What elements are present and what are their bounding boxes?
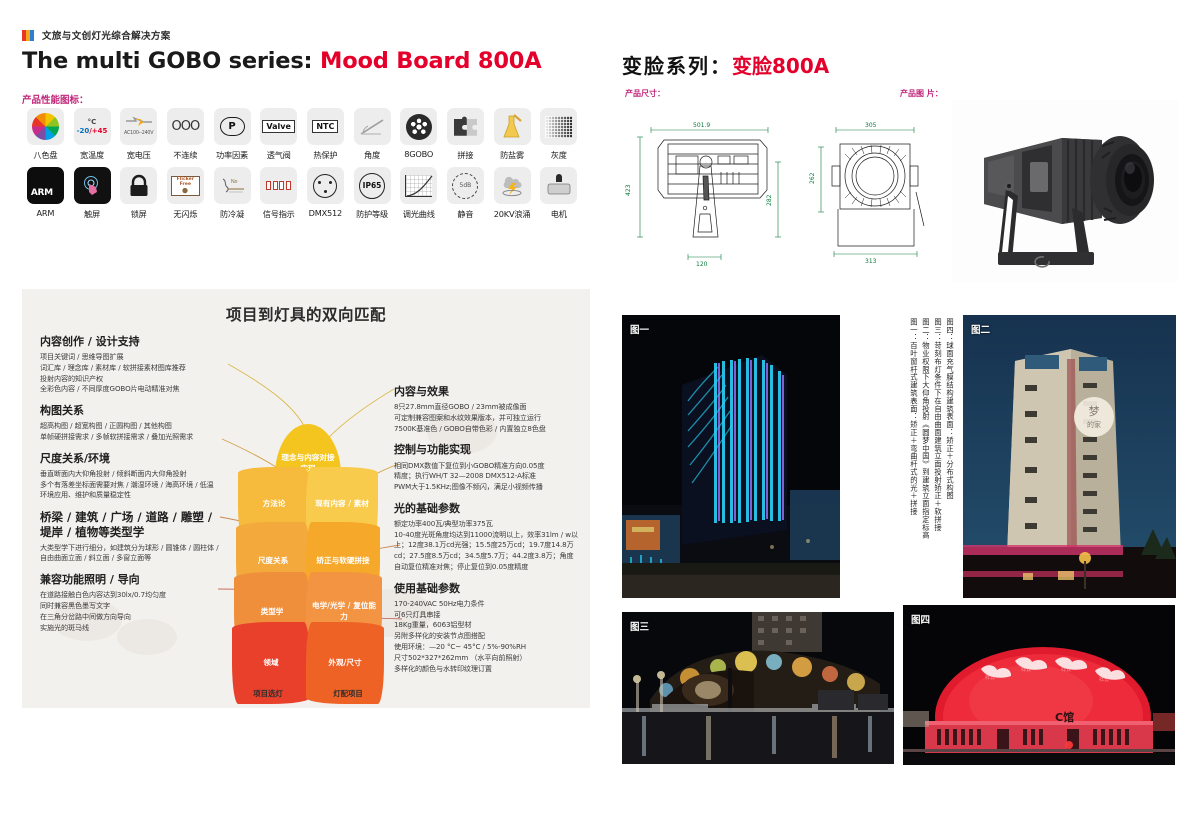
section-block: 内容创作 / 设计支持 项目关键词 / 思维导图扩展 词汇库 / 理念库 / 素… (40, 335, 220, 395)
page-title-accent: Mood Board 800A (320, 48, 541, 74)
section-block: 控制与功能实现 相同DMX数值下复位到小GOBO精准方向0.05度 精度；执行W… (394, 443, 579, 492)
feature-surge-protection[interactable]: 20KV浪涌 (489, 167, 536, 220)
page-root: 文旅与文创灯光综合解决方案 The multi GOBO series: Moo… (0, 0, 1200, 814)
section-body: 超高构图 / 超宽构图 / 正圆构图 / 其他构图 单帧硬拼接需求 / 多帧软拼… (40, 421, 220, 443)
icon-label: 角度 (349, 149, 396, 161)
thermal-protection-icon: NTC (312, 120, 338, 133)
vertical-caption: 图四：球面充气膜结构建筑表面：矫正＋分布式构图 (944, 318, 956, 598)
brand-logo-icon (22, 30, 35, 41)
feature-power-factor[interactable]: P 功率因素 (209, 108, 256, 161)
icons-section-label: 产品性能图标： (22, 92, 89, 106)
icon-label: 不连续 (162, 149, 209, 161)
feature-silent[interactable]: 5dB 静音 (442, 167, 489, 220)
photo-tower-projection: 图二 (963, 315, 1176, 598)
technical-drawing: 501.9 423 282 120 305 262 313 (618, 104, 948, 279)
wide-voltage-icon: AC100--240V (124, 115, 154, 139)
svg-text:祥云: 祥云 (1099, 676, 1109, 683)
svg-text:祥云: 祥云 (985, 674, 995, 681)
leaf-label: 类型学 (261, 607, 284, 618)
feature-dmx512[interactable]: DMX512 (302, 167, 349, 220)
section-heading: 兼容功能照明 / 导向 (40, 573, 220, 587)
arm-chip-icon: ARM (27, 167, 64, 204)
feature-signal-indicator[interactable]: 信号指示 (255, 167, 302, 220)
section-heading: 控制与功能实现 (394, 443, 579, 457)
svg-text:祥云: 祥云 (1021, 666, 1031, 673)
vent-valve-icon: Valve (262, 120, 295, 133)
screen-lock-icon (128, 173, 150, 199)
leaf-label: 电学/光学 / 复位能力 (310, 601, 378, 622)
feature-icon-row-2: ARM ARM 触屏 (22, 167, 582, 220)
icon-label: 防护等级 (349, 208, 396, 220)
dim-front-width: 305 (865, 122, 877, 129)
section-body: 垂直断面内大仰角投射 / 倾斜断面内大仰角投射 多个有落差坐标面需要对焦 / 潮… (40, 469, 220, 501)
photo-street-pavilion: 图三 (622, 612, 894, 764)
section-body: 相同DMX数值下复位到小GOBO精准方向0.05度 精度；执行WH/T 32—2… (394, 461, 579, 493)
dimming-curve-icon (405, 175, 432, 197)
section-body: 额定功率400瓦/典型功率375瓦 10-40度光斑角度均达到11000流明以上… (394, 519, 579, 573)
leaf-diagram: 理念与内容对接实现 方法论 现有内容 / 素材 尺度关系 矫正与软硬拼接 类型学… (228, 424, 388, 714)
feature-motor[interactable]: 电机 (535, 167, 582, 220)
svg-text:祥云: 祥云 (1061, 666, 1071, 673)
dim-side-height: 423 (625, 184, 632, 196)
motor-icon (546, 174, 572, 198)
dim-side-inner: 282 (766, 194, 773, 206)
power-factor-icon: P (220, 117, 245, 136)
brand-tagline: 文旅与文创灯光综合解决方案 (42, 28, 171, 42)
svg-text:梦: 梦 (1089, 405, 1100, 418)
splice-icon (452, 115, 479, 138)
icon-label: 20KV浪涌 (489, 208, 536, 220)
feature-touchscreen[interactable]: 触屏 (69, 167, 116, 220)
section-body: 大类型学下进行细分，如建筑分为球形 / 圆锥体 / 圆柱体 / 自由曲面立面 /… (40, 543, 220, 565)
section-body: 170-240VAC 50Hz电力条件 可6只灯具串接 18Kg重量，6063铝… (394, 599, 579, 674)
icon-label: 宽温度 (69, 149, 116, 161)
section-block: 桥梁 / 建筑 / 广场 / 道路 / 雕塑 / 堤岸 / 植物等类型学 大类型… (40, 510, 220, 564)
dim-side-width: 501.9 (693, 122, 710, 129)
section-block: 光的基础参数 额定功率400瓦/典型功率375瓦 10-40度光斑角度均达到11… (394, 502, 579, 573)
feature-wide-voltage[interactable]: AC100--240V 宽电压 (115, 108, 162, 161)
right-title-main: 变脸系列： (622, 54, 732, 78)
section-heading: 尺度关系/环境 (40, 452, 220, 466)
icon-label: 无闪烁 (162, 208, 209, 220)
icon-label: 八色盘 (22, 149, 69, 161)
icon-label: 静音 (442, 208, 489, 220)
vertical-caption: 图三：苛刻布灯条件下在自由曲面建筑立面投射矫正＋软拼接 (932, 318, 944, 598)
icon-label: 功率因素 (209, 149, 256, 161)
left-text-column: 内容创作 / 设计支持 项目关键词 / 思维导图扩展 词汇库 / 理念库 / 素… (40, 335, 220, 642)
feature-color-wheel[interactable]: 八色盘 (22, 108, 69, 161)
photo-tag: 图三 (630, 619, 649, 633)
section-heading: 内容创作 / 设计支持 (40, 335, 220, 349)
feature-thermal-protection[interactable]: NTC 热保护 (302, 108, 349, 161)
icon-label: 灰度 (535, 149, 582, 161)
icon-label: 信号指示 (255, 208, 302, 220)
icon-label: 调光曲线 (395, 208, 442, 220)
dome-sign-label: C馆 (1055, 710, 1074, 724)
leaf-label: 矫正与软硬拼接 (316, 556, 369, 567)
vertical-caption: 图二：物业权限下大仰角投射《圆梦中国》到建筑立面指定标高 (920, 318, 932, 598)
section-heading: 光的基础参数 (394, 502, 579, 516)
touchscreen-icon (74, 167, 111, 204)
section-heading: 桥梁 / 建筑 / 广场 / 道路 / 雕塑 / 堤岸 / 植物等类型学 (40, 510, 220, 539)
icon-label: 触屏 (69, 208, 116, 220)
photo-tag: 图一 (630, 322, 649, 336)
page-title: The multi GOBO series: Mood Board 800A (22, 48, 541, 74)
dim-base-width: 120 (696, 261, 708, 268)
page-title-main: The multi GOBO series: (22, 48, 320, 74)
non-continuous-icon: OOO (171, 119, 199, 134)
leaf-label: 现有内容 / 素材 (315, 499, 369, 510)
feature-dimming-curve[interactable]: 调光曲线 (395, 167, 442, 220)
feature-flicker-free[interactable]: Flicker Free 无闪烁 (162, 167, 209, 220)
feature-splice[interactable]: 拼接 (442, 108, 489, 161)
dim-front-height: 262 (809, 172, 816, 184)
svg-text:No: No (231, 179, 238, 185)
leaf-caption-left: 项目选灯 (228, 688, 308, 699)
leaf-label: 领域 (263, 658, 278, 669)
gobo-wheel-icon (406, 114, 432, 140)
feature-anti-condensation[interactable]: No 防冷凝 (209, 167, 256, 220)
dimensions-label: 产品尺寸： (625, 88, 665, 99)
photo-vertical-captions: 图四：球面充气膜结构建筑表面：矫正＋分布式构图 图三：苛刻布灯条件下在自由曲面建… (856, 318, 956, 598)
anti-condensation-icon: No (217, 175, 247, 197)
section-block: 内容与效果 8只27.8mm直径GOBO / 23mm被成像面 可定制兼容图案和… (394, 385, 579, 434)
grayscale-icon (545, 116, 572, 138)
photo-red-dome: 图四 祥云祥云祥云祥云 (903, 605, 1175, 765)
right-text-column: 内容与效果 8只27.8mm直径GOBO / 23mm被成像面 可定制兼容图案和… (394, 385, 579, 683)
section-heading: 内容与效果 (394, 385, 579, 399)
salt-spray-icon (501, 114, 523, 140)
product-photo-label: 产品图 片： (900, 88, 943, 99)
product-photo (952, 100, 1178, 282)
feature-screen-lock[interactable]: 锁屏 (115, 167, 162, 220)
section-heading: 构图关系 (40, 404, 220, 418)
feature-salt-spray[interactable]: 防盐雾 (489, 108, 536, 161)
feature-non-continuous[interactable]: OOO 不连续 (162, 108, 209, 161)
section-block: 使用基础参数 170-240VAC 50Hz电力条件 可6只灯具串接 18Kg重… (394, 582, 579, 675)
feature-icon-row-1: 八色盘 °C -20/+45 宽温度 AC100--240V 宽电压 OOO 不… (22, 108, 582, 161)
color-wheel-icon (32, 113, 59, 140)
svg-text:的家: 的家 (1087, 420, 1101, 429)
angle-icon (359, 117, 385, 137)
leaf-label: 外观/尺寸 (328, 658, 361, 669)
photo-building-blue-facade: 图一 (622, 315, 840, 598)
photo-tag: 图二 (971, 322, 990, 336)
feature-icon-grid: 八色盘 °C -20/+45 宽温度 AC100--240V 宽电压 OOO 不… (22, 108, 582, 226)
section-body: 项目关键词 / 思维导图扩展 词汇库 / 理念库 / 素材库 / 软拼接素材图库… (40, 352, 220, 395)
icon-label: ARM (22, 208, 69, 218)
icon-label: 8GOBO (395, 149, 442, 159)
feature-arm-chip[interactable]: ARM ARM (22, 167, 69, 220)
section-heading: 使用基础参数 (394, 582, 579, 596)
vertical-caption: 图一：百叶窗杆式建筑表面：矫正＋弯曲杆式的光＋拼接 (908, 318, 920, 598)
silent-icon: 5dB (452, 173, 478, 199)
section-block: 兼容功能照明 / 导向 在道路接触白色内容达到30lx/0.7均匀度 同时兼容黑… (40, 573, 220, 633)
photo-tag: 图四 (911, 612, 930, 626)
flicker-free-icon: Flicker Free (171, 176, 200, 196)
section-block: 构图关系 超高构图 / 超宽构图 / 正圆构图 / 其他构图 单帧硬拼接需求 /… (40, 404, 220, 443)
signal-indicator-icon (266, 181, 291, 190)
feature-gobo-wheel[interactable]: 8GOBO (395, 108, 442, 161)
icon-label: DMX512 (302, 208, 349, 218)
icon-label: 防冷凝 (209, 208, 256, 220)
icon-label: 宽电压 (115, 149, 162, 161)
feature-angle[interactable]: 角度 (349, 108, 396, 161)
surge-protection-icon (498, 174, 526, 198)
feature-wide-temperature[interactable]: °C -20/+45 宽温度 (69, 108, 116, 161)
feature-vent-valve[interactable]: Valve 透气阀 (255, 108, 302, 161)
section-block: 尺度关系/环境 垂直断面内大仰角投射 / 倾斜断面内大仰角投射 多个有落差坐标面… (40, 452, 220, 501)
dmx512-icon (313, 174, 337, 198)
icon-label: 热保护 (302, 149, 349, 161)
feature-ingress-protection[interactable]: IP65 防护等级 (349, 167, 396, 220)
leaf-label: 方法论 (263, 499, 286, 510)
feature-grayscale[interactable]: 灰度 (535, 108, 582, 161)
icon-label: 锁屏 (115, 208, 162, 220)
icon-label: 电机 (535, 208, 582, 220)
right-page-title: 变脸系列：变脸800A (622, 50, 829, 79)
leaf-label: 尺度关系 (258, 556, 288, 567)
ingress-protection-icon: IP65 (359, 173, 385, 199)
icon-label: 透气阀 (255, 149, 302, 161)
icon-label: 防盐雾 (489, 149, 536, 161)
wide-temperature-icon: °C -20/+45 (77, 118, 108, 134)
leaf-diagram-captions: 项目选灯 灯配项目 (228, 688, 388, 699)
brand-line: 文旅与文创灯光综合解决方案 (22, 28, 171, 42)
icon-label: 拼接 (442, 149, 489, 161)
right-title-accent: 变脸800A (732, 54, 829, 78)
leaf-caption-right: 灯配项目 (308, 688, 388, 699)
section-body: 8只27.8mm直径GOBO / 23mm被成像面 可定制兼容图案和水纹效果版本… (394, 402, 579, 434)
section-body: 在道路接触白色内容达到30lx/0.7均匀度 同时兼容黑色墨写文字 在三角分岔路… (40, 590, 220, 633)
dim-front-base: 313 (865, 258, 877, 265)
